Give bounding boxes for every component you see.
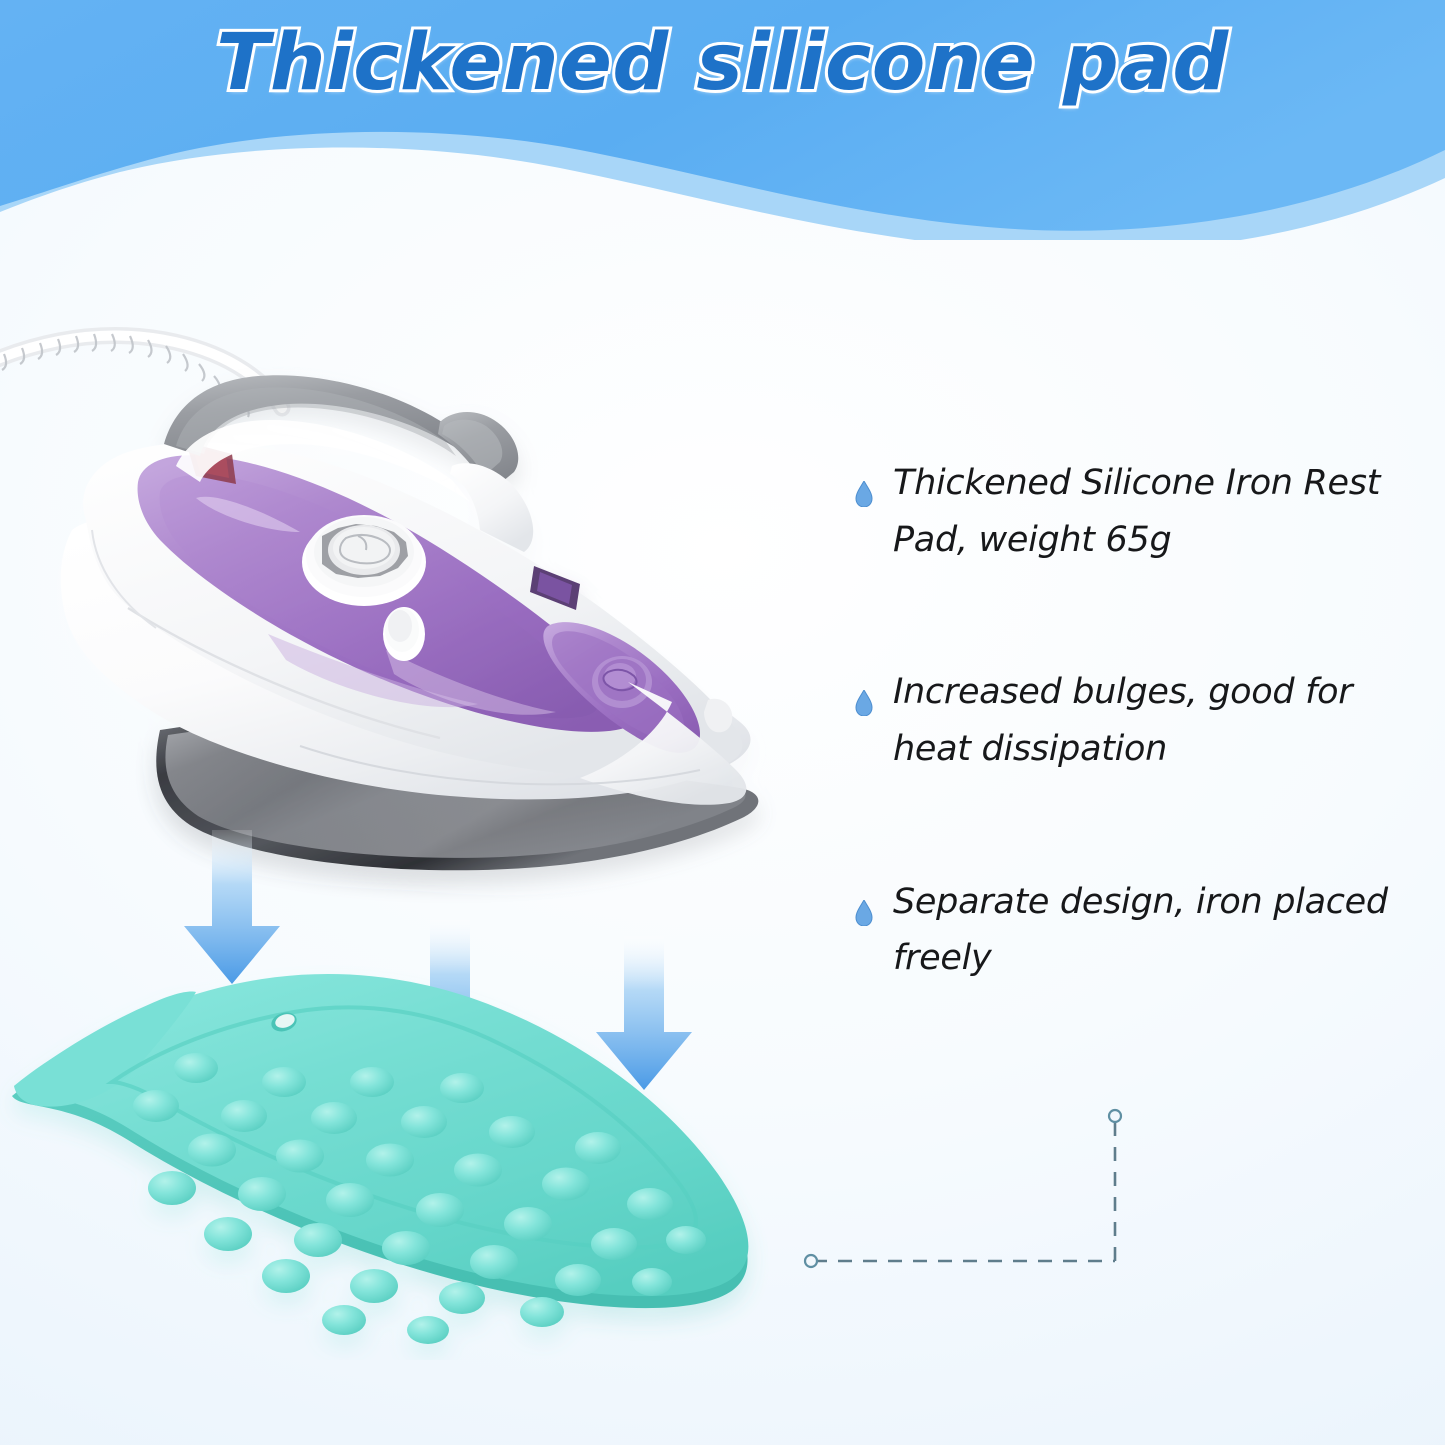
dimension-leader-line bbox=[780, 1080, 1180, 1300]
callout-endpoint-top bbox=[1109, 1110, 1121, 1122]
feature-item-3: Separate design, iron placed freely bbox=[855, 874, 1430, 987]
feature-text-2: Increased bulges, good for heat dissipat… bbox=[893, 664, 1430, 777]
arrow-down-3 bbox=[596, 936, 692, 1090]
page-title: Thickened silicone pad bbox=[0, 18, 1445, 108]
water-drop-icon bbox=[855, 481, 873, 507]
spray-button bbox=[383, 607, 425, 661]
feature-list: Thickened Silicone Iron Rest Pad, weight… bbox=[855, 455, 1430, 987]
product-illustration bbox=[0, 230, 840, 1360]
arrow-down-1 bbox=[184, 830, 280, 984]
steam-iron-icon bbox=[61, 375, 759, 870]
water-drop-icon bbox=[855, 690, 873, 716]
callout-endpoint-left bbox=[805, 1255, 817, 1267]
steam-knob bbox=[592, 656, 652, 708]
feature-item-2: Increased bulges, good for heat dissipat… bbox=[855, 664, 1430, 777]
infographic-canvas: Thickened silicone pad Thickened silicon… bbox=[0, 0, 1445, 1445]
feature-text-1: Thickened Silicone Iron Rest Pad, weight… bbox=[893, 455, 1430, 568]
feature-item-1: Thickened Silicone Iron Rest Pad, weight… bbox=[855, 455, 1430, 568]
water-drop-icon bbox=[855, 900, 873, 926]
feature-text-3: Separate design, iron placed freely bbox=[893, 874, 1430, 987]
